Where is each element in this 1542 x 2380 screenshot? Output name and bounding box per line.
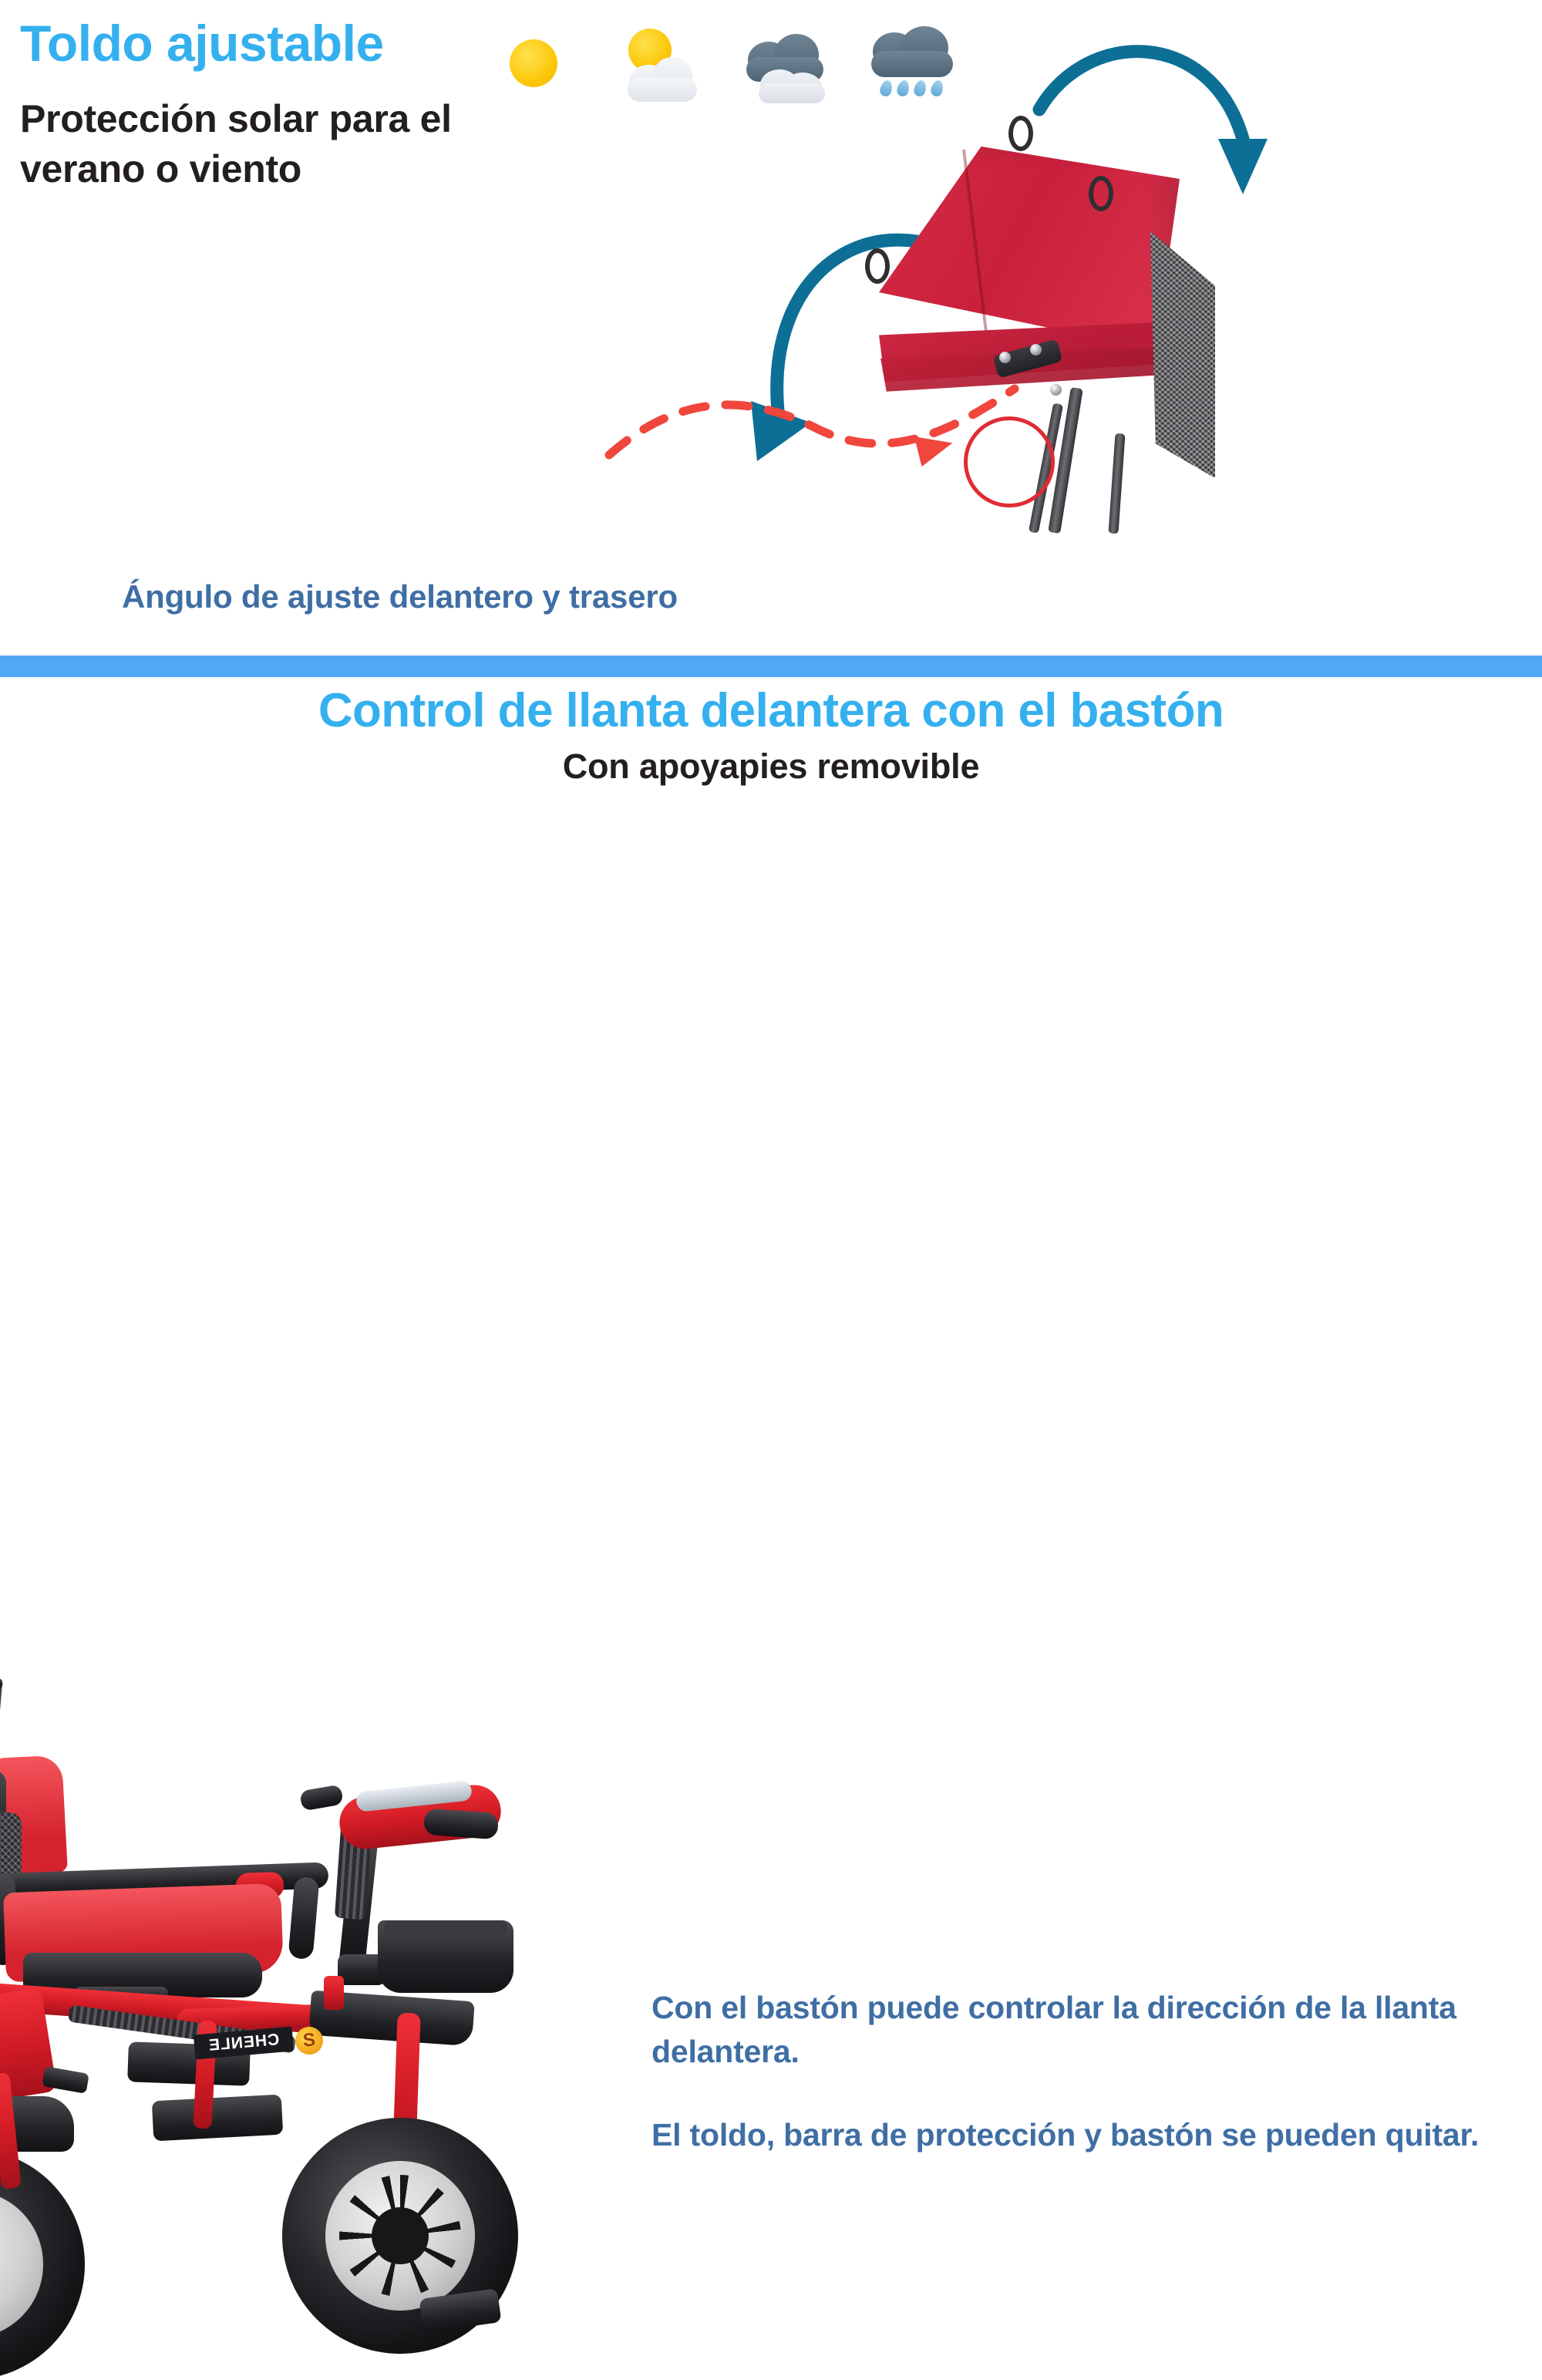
pedal-right	[152, 2095, 283, 2142]
canopy-hook-right	[1089, 176, 1113, 211]
handlebar-grip-right	[423, 1809, 499, 1840]
highlight-circle	[964, 416, 1055, 507]
section-subtitle: Con apoyapies removible	[0, 747, 1542, 787]
sun-behind-cloud-icon	[617, 22, 703, 105]
canopy-rivet	[1050, 384, 1062, 396]
rain-drop	[913, 79, 928, 97]
sun-icon	[490, 22, 577, 105]
top-panel: Toldo ajustable Protección solar para el…	[0, 0, 1542, 648]
frame-lever	[324, 1976, 344, 2010]
sun-core	[510, 39, 557, 87]
rain-drop	[896, 79, 911, 97]
brand-name: CHENLE	[207, 2031, 280, 2055]
handlebar-grip-left	[299, 1785, 344, 1812]
front-wheel-spokes	[339, 2175, 461, 2297]
rain-drop	[879, 79, 894, 97]
cloud-base	[628, 77, 697, 102]
page-title: Toldo ajustable	[20, 17, 384, 70]
canopy-hook-top	[1008, 116, 1033, 151]
cloud-base-dark	[871, 51, 953, 77]
infographic-page: Toldo ajustable Protección solar para el…	[0, 0, 1542, 1542]
rain-cloud-icon	[870, 22, 956, 105]
cloud-base-light	[759, 83, 825, 103]
section-title: Control de llanta delantera con el bastó…	[0, 683, 1542, 738]
basket-rim	[384, 1920, 507, 1936]
canopy-hook-left	[865, 248, 890, 284]
canopy-frame-bar	[1108, 433, 1125, 534]
weather-icon-row	[490, 22, 956, 105]
section-divider	[0, 656, 1542, 677]
canopy-rivet	[999, 352, 1011, 363]
body-paragraph-1: Con el bastón puede controlar la direcci…	[651, 1986, 1492, 2073]
bottom-panel: CHENLE S Con el bastón puede controlar l…	[0, 833, 1542, 1542]
body-paragraph-2: El toldo, barra de protección y bastón s…	[651, 2113, 1492, 2157]
rain-drop	[930, 79, 945, 97]
canopy-rivet	[1030, 344, 1042, 356]
angle-adjust-label: Ángulo de ajuste delantero y trasero	[122, 578, 678, 615]
canopy-mesh-panel	[1150, 231, 1215, 478]
page-subtitle: Protección solar para el verano o viento	[20, 94, 513, 194]
cloud-icon	[743, 22, 830, 105]
